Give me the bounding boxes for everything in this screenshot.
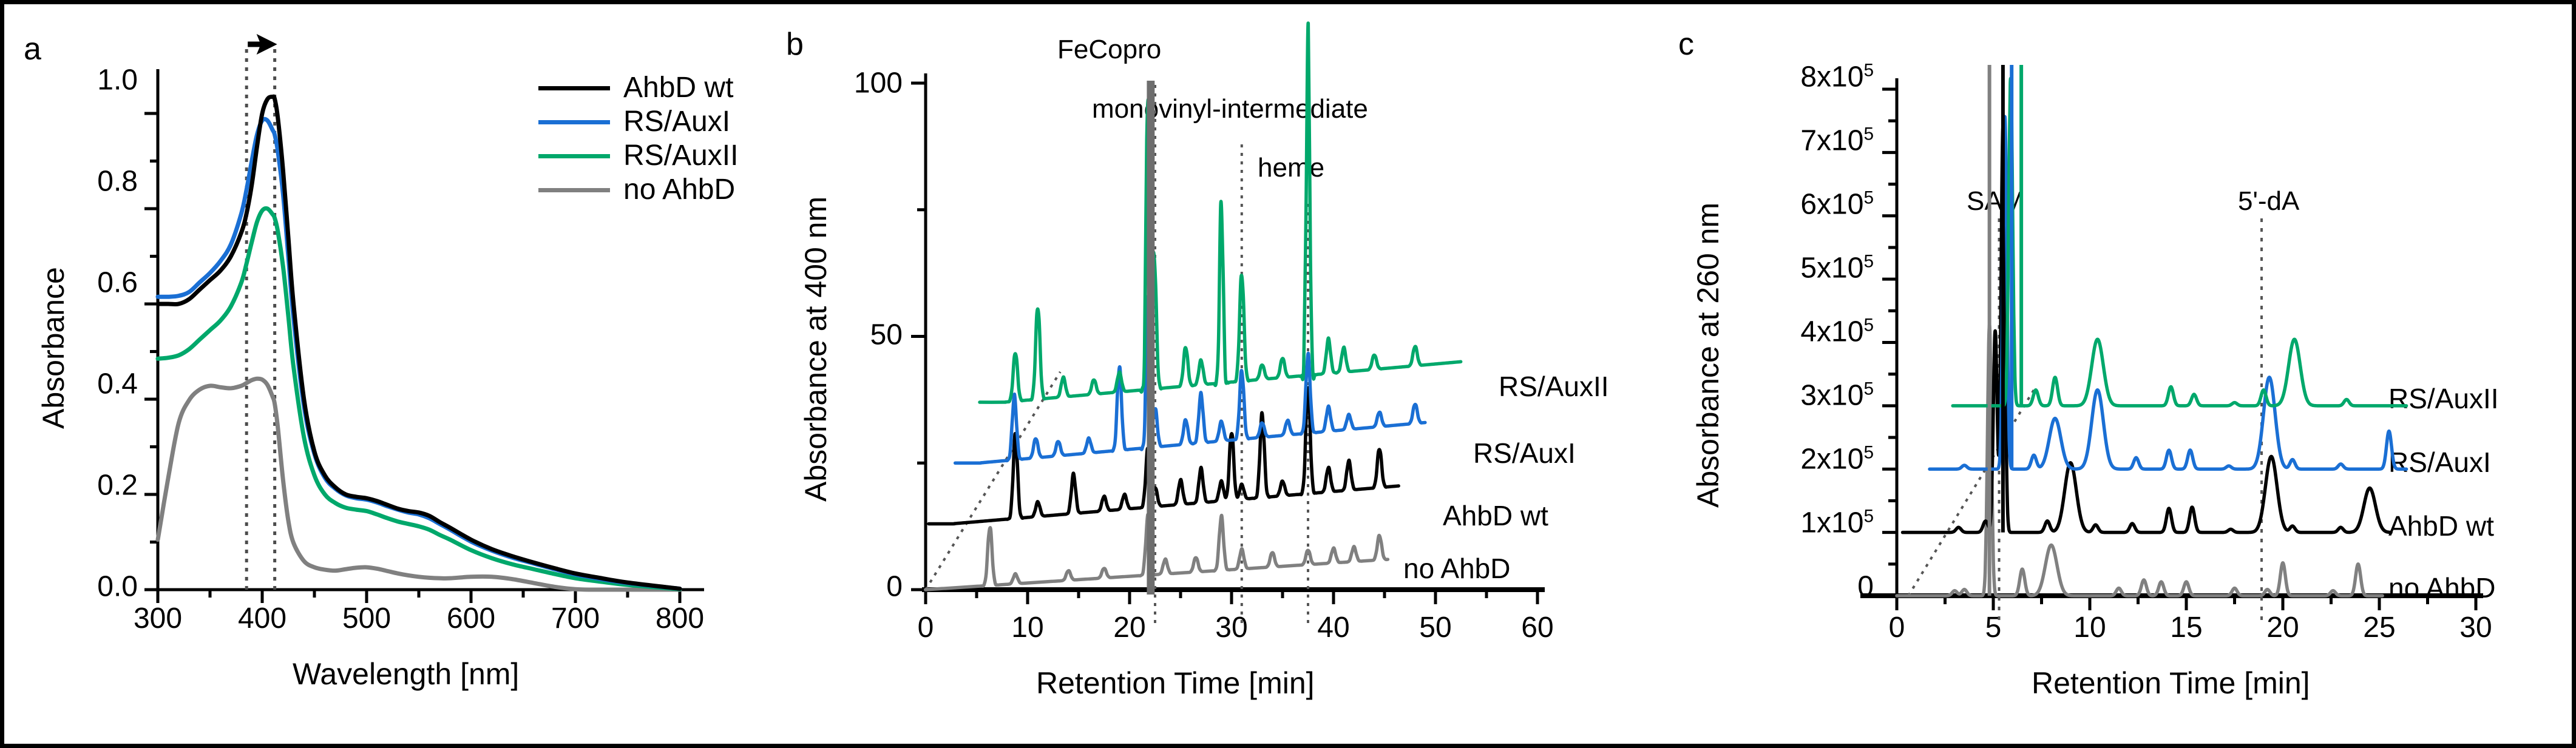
- trace-rs-auxii: [158, 208, 680, 589]
- figure-root: a 0.0 0.2 0.4 0.6 0.8 1.0 300 400 500 60…: [0, 0, 2576, 748]
- trace-rs-auxi: [158, 119, 680, 588]
- trace-no-ahbd: [926, 514, 1388, 590]
- panel-a-plot: [4, 4, 775, 748]
- panel-b-plot: [775, 4, 1667, 748]
- trace-no-ahbd: [158, 379, 680, 590]
- trace-rs-auxii: [980, 23, 1461, 402]
- panel-c-plot: [1667, 4, 2576, 748]
- panel-b: b 0 50 100 0 10 20 30 40 50 60 Absorbanc…: [775, 4, 1667, 748]
- panel-a: a 0.0 0.2 0.4 0.6 0.8 1.0 300 400 500 60…: [4, 4, 775, 748]
- trace-ahbd-wt: [1903, 127, 2391, 533]
- panel-c: c 0 1x105 2x105 3x105 4x105 5x105 6x105 …: [1667, 4, 2576, 748]
- waterfall-guide-line: [1908, 387, 2036, 596]
